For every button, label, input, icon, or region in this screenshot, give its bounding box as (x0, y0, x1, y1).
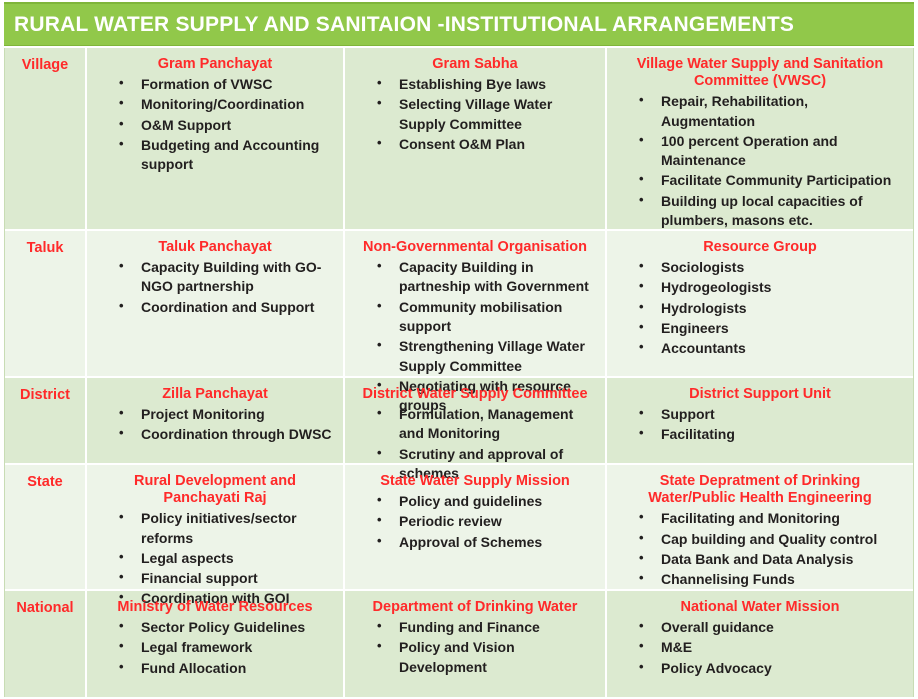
cell-title: Gram Panchayat (97, 56, 333, 73)
bullet-item: Facilitating and Monitoring (639, 509, 905, 528)
bullet-list: Facilitating and MonitoringCap building … (613, 509, 907, 589)
cell-title: Village Water Supply and Sanitation Comm… (617, 56, 903, 90)
level-cell-national: National (5, 591, 87, 697)
matrix-cell: Zilla PanchayatProject MonitoringCoordin… (87, 378, 345, 463)
bullet-item: Engineers (639, 319, 905, 338)
bullet-item: Coordination through DWSC (119, 425, 335, 444)
bullet-item: 100 percent Operation and Maintenance (639, 132, 905, 171)
cell-title: Gram Sabha (355, 56, 595, 73)
bullet-item: Policy and guidelines (377, 492, 597, 511)
matrix-cell: Department of Drinking WaterFunding and … (345, 591, 607, 697)
bullet-item: Approval of Schemes (377, 533, 597, 552)
page-title-banner: RURAL WATER SUPPLY AND SANITAION -INSTIT… (4, 2, 914, 46)
bullet-list: Repair, Rehabilitation, Augmentation100 … (613, 92, 907, 230)
bullet-item: O&M Support (119, 116, 335, 135)
level-label: Village (11, 57, 79, 73)
bullet-item: Capacity Building in partneship with Gov… (377, 258, 597, 297)
bullet-item: Capacity Building with GO-NGO partnershi… (119, 258, 335, 297)
bullet-item: Legal framework (119, 638, 335, 657)
bullet-item: Policy Advocacy (639, 659, 905, 678)
bullet-item: Cap building and Quality control (639, 530, 905, 549)
bullet-list: Policy and guidelinesPeriodic reviewAppr… (351, 492, 599, 552)
matrix-row-state: StateRural Development and Panchayati Ra… (5, 465, 913, 591)
bullet-item: Establishing Bye laws (377, 75, 597, 94)
bullet-item: Legal aspects (119, 549, 335, 568)
bullet-item: Overall guidance (639, 618, 905, 637)
bullet-list: Establishing Bye lawsSelecting Village W… (351, 75, 599, 154)
level-label: District (11, 387, 79, 403)
bullet-list: Funding and FinancePolicy and Vision Dev… (351, 618, 599, 677)
bullet-item: Hydrogeologists (639, 278, 905, 297)
level-cell-state: State (5, 465, 87, 589)
cell-title: Zilla Panchayat (97, 386, 333, 403)
matrix-cell: State Depratment of Drinking Water/Publi… (607, 465, 913, 589)
matrix-row-national: NationalMinistry of Water ResourcesSecto… (5, 591, 913, 697)
matrix-cell: Taluk PanchayatCapacity Building with GO… (87, 231, 345, 376)
level-cell-village: Village (5, 48, 87, 229)
bullet-list: Project MonitoringCoordination through D… (93, 405, 337, 445)
level-cell-taluk: Taluk (5, 231, 87, 376)
page-title: RURAL WATER SUPPLY AND SANITAION -INSTIT… (4, 13, 794, 37)
bullet-item: Policy and Vision Development (377, 638, 597, 677)
cell-title: National Water Mission (617, 599, 903, 616)
cell-title: Department of Drinking Water (355, 599, 595, 616)
cell-title: State Depratment of Drinking Water/Publi… (617, 473, 903, 507)
matrix-cell: Gram PanchayatFormation of VWSCMonitorin… (87, 48, 345, 229)
matrix-cell: National Water MissionOverall guidanceM&… (607, 591, 913, 697)
cell-title: State Water Supply Mission (355, 473, 595, 490)
bullet-list: Sector Policy GuidelinesLegal frameworkF… (93, 618, 337, 678)
matrix-row-district: DistrictZilla PanchayatProject Monitorin… (5, 378, 913, 465)
matrix-cell: Ministry of Water ResourcesSector Policy… (87, 591, 345, 697)
bullet-item: Building up local capacities of plumbers… (639, 192, 905, 231)
cell-title: Non-Governmental Organisation (355, 239, 595, 256)
bullet-item: Selecting Village Water Supply Committee (377, 95, 597, 134)
bullet-item: Coordination and Support (119, 298, 335, 317)
matrix-cell: District Water Supply CommitteeFormulati… (345, 378, 607, 463)
bullet-list: Formation of VWSCMonitoring/Coordination… (93, 75, 337, 175)
matrix-cell: Resource GroupSociologistsHydrogeologist… (607, 231, 913, 376)
bullet-item: Fund Allocation (119, 659, 335, 678)
bullet-item: Facilitating (639, 425, 905, 444)
institutional-arrangements-matrix: VillageGram PanchayatFormation of VWSCMo… (4, 48, 914, 697)
bullet-item: M&E (639, 638, 905, 657)
matrix-cell: Gram SabhaEstablishing Bye lawsSelecting… (345, 48, 607, 229)
cell-title: Taluk Panchayat (97, 239, 333, 256)
cell-title: District Water Supply Committee (355, 386, 595, 403)
bullet-item: Policy initiatives/sector reforms (119, 509, 335, 548)
cell-title: Rural Development and Panchayati Raj (97, 473, 333, 507)
bullet-item: Formation of VWSC (119, 75, 335, 94)
bullet-item: Data Bank and Data Analysis (639, 550, 905, 569)
matrix-cell: Rural Development and Panchayati RajPoli… (87, 465, 345, 589)
bullet-item: Financial support (119, 569, 335, 588)
level-label: State (11, 474, 79, 490)
level-label: Taluk (11, 240, 79, 256)
matrix-cell: State Water Supply MissionPolicy and gui… (345, 465, 607, 589)
bullet-item: Channelising Funds (639, 570, 905, 589)
matrix-row-taluk: TalukTaluk PanchayatCapacity Building wi… (5, 231, 913, 378)
matrix-cell: District Support UnitSupportFacilitating (607, 378, 913, 463)
bullet-list: SupportFacilitating (613, 405, 907, 445)
bullet-list: Overall guidanceM&EPolicy Advocacy (613, 618, 907, 678)
bullet-item: Community mobilisation support (377, 298, 597, 337)
bullet-item: Strengthening Village Water Supply Commi… (377, 337, 597, 376)
bullet-item: Sociologists (639, 258, 905, 277)
level-cell-district: District (5, 378, 87, 463)
bullet-item: Consent O&M Plan (377, 135, 597, 154)
bullet-item: Periodic review (377, 512, 597, 531)
cell-title: District Support Unit (617, 386, 903, 403)
bullet-item: Hydrologists (639, 299, 905, 318)
bullet-item: Sector Policy Guidelines (119, 618, 335, 637)
bullet-item: Budgeting and Accounting support (119, 136, 335, 175)
bullet-item: Accountants (639, 339, 905, 358)
level-label: National (11, 600, 79, 616)
bullet-list: Capacity Building with GO-NGO partnershi… (93, 258, 337, 317)
cell-title: Resource Group (617, 239, 903, 256)
cell-title: Ministry of Water Resources (97, 599, 333, 616)
matrix-cell: Village Water Supply and Sanitation Comm… (607, 48, 913, 229)
institutional-arrangements-page: RURAL WATER SUPPLY AND SANITAION -INSTIT… (0, 0, 918, 699)
bullet-item: Project Monitoring (119, 405, 335, 424)
bullet-item: Funding and Finance (377, 618, 597, 637)
bullet-item: Monitoring/Coordination (119, 95, 335, 114)
bullet-item: Facilitate Community Participation (639, 171, 905, 190)
matrix-row-village: VillageGram PanchayatFormation of VWSCMo… (5, 48, 913, 231)
bullet-item: Support (639, 405, 905, 424)
bullet-item: Formulation, Management and Monitoring (377, 405, 597, 444)
bullet-item: Repair, Rehabilitation, Augmentation (639, 92, 905, 131)
bullet-list: SociologistsHydrogeologistsHydrologistsE… (613, 258, 907, 359)
matrix-cell: Non-Governmental OrganisationCapacity Bu… (345, 231, 607, 376)
